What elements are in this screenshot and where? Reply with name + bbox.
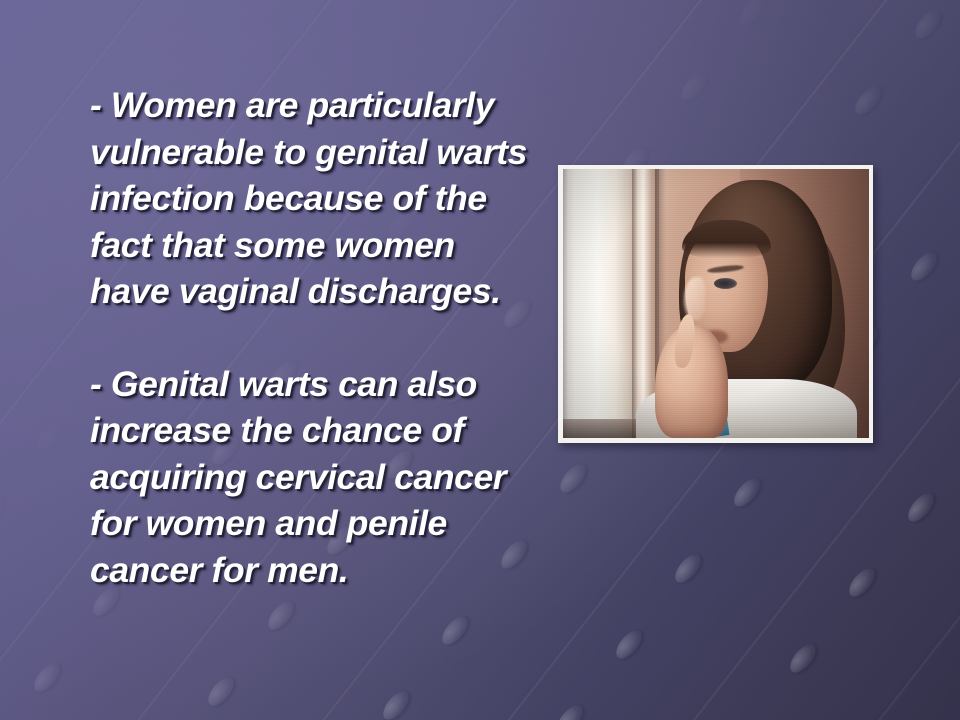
quilt-bead	[611, 626, 646, 663]
paragraph-1-line-5: have vaginal discharges.	[90, 268, 536, 315]
photo-frame	[558, 165, 873, 443]
photo-woman-by-window	[563, 169, 869, 438]
paragraph-2-line-4: for women and penile	[90, 500, 536, 547]
quilt-bead	[904, 489, 939, 526]
presentation-slide: - Women are particularly vulnerable to g…	[0, 0, 960, 720]
quilt-bead	[670, 550, 705, 587]
slide-body-text: - Women are particularly vulnerable to g…	[90, 82, 536, 593]
paragraph-1-line-3: infection because of the	[90, 175, 536, 222]
quilt-bead	[437, 612, 472, 649]
quilt-bead	[736, 0, 771, 29]
quilt-bead	[552, 701, 587, 720]
quilt-bead	[555, 460, 590, 497]
quilt-bead	[907, 248, 942, 285]
quilt-bead	[726, 716, 761, 720]
quilt-bead	[33, 418, 68, 455]
paragraph-1-line-1: - Women are particularly	[90, 82, 536, 129]
quilt-bead	[845, 564, 880, 601]
quilt-bead	[378, 687, 413, 720]
paragraph-2-line-1: - Genital warts can also	[90, 361, 536, 408]
paragraph-2: - Genital warts can also increase the ch…	[90, 361, 536, 594]
quilt-bead	[204, 673, 239, 710]
quilt-bead	[851, 82, 886, 119]
photo-vignette	[563, 169, 869, 438]
paragraph-2-line-3: acquiring cervical cancer	[90, 454, 536, 501]
quilt-bead	[677, 68, 712, 105]
paragraph-1: - Women are particularly vulnerable to g…	[90, 82, 536, 315]
quilt-bead	[263, 597, 298, 634]
quilt-bead	[30, 659, 65, 696]
quilt-bead	[786, 640, 821, 677]
paragraph-2-line-5: cancer for men.	[90, 547, 536, 594]
quilt-bead	[910, 6, 945, 43]
quilt-bead	[0, 493, 9, 530]
quilt-bead	[730, 474, 765, 511]
paragraph-1-line-4: fact that some women	[90, 222, 536, 269]
paragraph-2-line-2: increase the chance of	[90, 407, 536, 454]
paragraph-1-line-2: vulnerable to genital warts	[90, 129, 536, 176]
